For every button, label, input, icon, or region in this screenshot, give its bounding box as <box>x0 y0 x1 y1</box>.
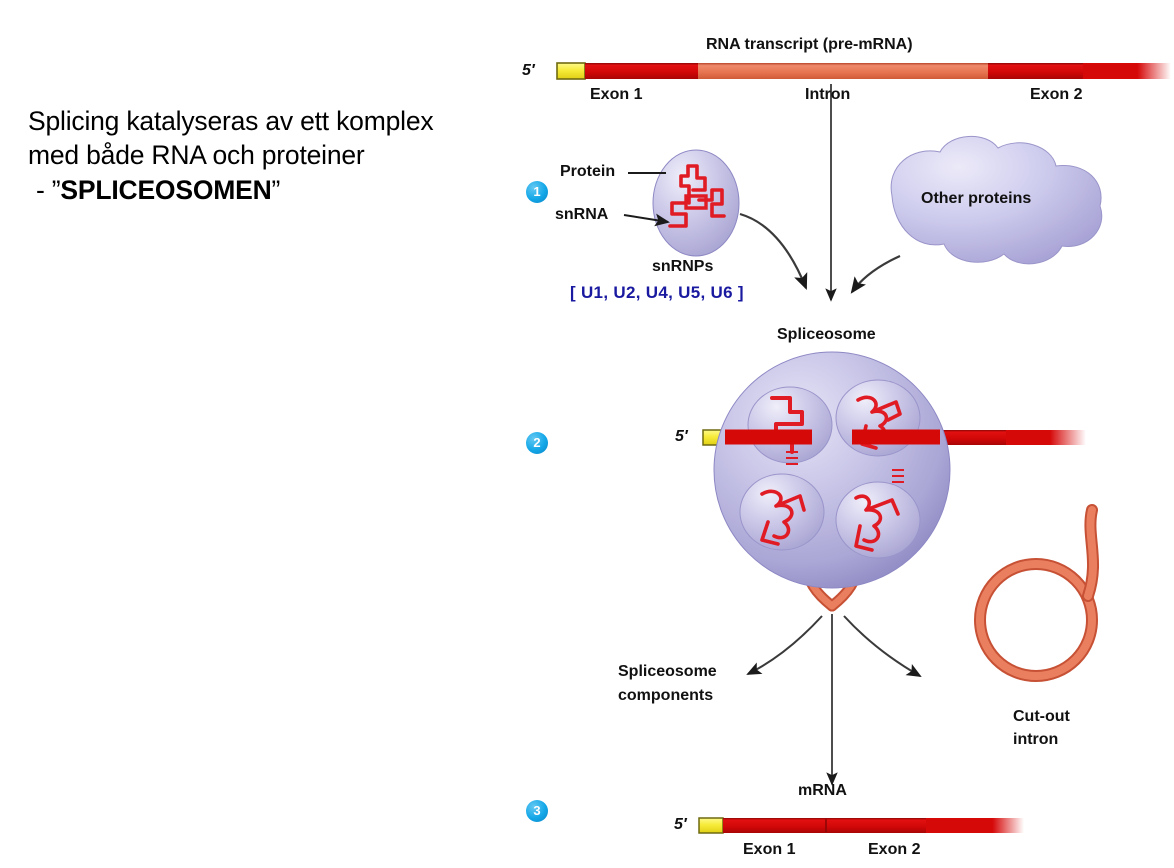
snrnp-to-spliceosome-arrow <box>740 214 806 288</box>
transcript-title: RNA transcript (pre-mRNA) <box>706 36 913 54</box>
caption-line-3: - ”SPLICEOSOMEN” <box>28 173 498 207</box>
spliceosome-body <box>714 352 950 588</box>
caption-line3-suffix: ” <box>272 175 281 205</box>
snrnp-particle <box>653 150 739 256</box>
step-badge-2: 2 <box>526 432 548 454</box>
mrna-exon1-label: Exon 1 <box>743 841 795 859</box>
mrna-five-prime: 5′ <box>674 816 687 834</box>
caption-line3-bold: SPLICEOSOMEN <box>60 175 271 205</box>
transcript-exon1-label: Exon 1 <box>590 86 642 104</box>
caption-line-1: Splicing katalyseras av ett komplex <box>28 104 498 138</box>
to-components-arrow <box>748 616 822 674</box>
splicing-diagram: RNA transcript (pre-mRNA) 5′ Exon 1 Intr… <box>500 0 1174 868</box>
transcript-five-prime: 5′ <box>522 62 535 80</box>
cut-out-intron-label-line1: Cut-out <box>1013 708 1070 726</box>
step2-right-exon <box>932 430 1086 445</box>
caption-line3-prefix: - ” <box>36 175 60 205</box>
snrnp-subunits-label: [ U1, U2, U4, U5, U6 ] <box>570 283 744 303</box>
slide-canvas: Splicing katalyseras av ett komplex med … <box>0 0 1174 868</box>
to-intron-arrow <box>844 616 920 676</box>
mature-mrna-bar <box>699 818 1024 833</box>
protein-label: Protein <box>560 163 615 181</box>
mrna-exon2-label: Exon 2 <box>868 841 920 859</box>
proteins-to-spliceosome-arrow <box>852 256 900 292</box>
spliceosome-components-label-line2: components <box>618 687 713 705</box>
cut-out-intron-label-line2: intron <box>1013 731 1058 749</box>
caption-line-2: med både RNA och proteiner <box>28 138 498 172</box>
spliceosome-label: Spliceosome <box>777 326 876 344</box>
mrna-label: mRNA <box>798 782 847 800</box>
pre-mrna-bar <box>557 63 1171 79</box>
step-badge-1: 1 <box>526 181 548 203</box>
transcript-exon2-label: Exon 2 <box>1030 86 1082 104</box>
diagram-artwork <box>500 0 1174 868</box>
other-proteins-label: Other proteins <box>921 190 1031 208</box>
transcript-intron-label: Intron <box>805 86 850 104</box>
step-badge-3: 3 <box>526 800 548 822</box>
step2-five-prime: 5′ <box>675 428 688 446</box>
snrna-label: snRNA <box>555 206 608 224</box>
cut-out-intron-lariat <box>980 510 1093 676</box>
snrnps-label: snRNPs <box>652 258 713 276</box>
spliceosome-components-label-line1: Spliceosome <box>618 663 717 681</box>
caption-block: Splicing katalyseras av ett komplex med … <box>28 104 498 207</box>
